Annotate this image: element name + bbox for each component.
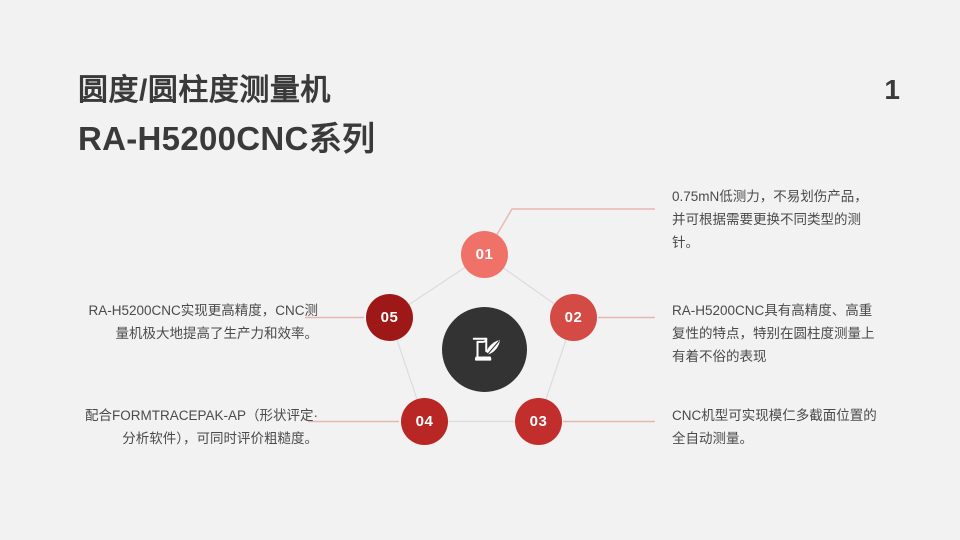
connector-line-01 [492, 209, 655, 243]
title-line-2: RA-H5200CNC系列 [78, 118, 598, 161]
scroll-quill-icon [465, 330, 505, 370]
title-line-1: 圆度/圆柱度测量机 [78, 72, 598, 110]
page-title: 圆度/圆柱度测量机 RA-H5200CNC系列 [78, 72, 598, 161]
node-03[interactable]: 03 [515, 398, 562, 445]
node-01[interactable]: 01 [461, 231, 508, 278]
node-03-label: 03 [530, 413, 548, 430]
center-icon-circle [442, 307, 527, 392]
node-05[interactable]: 05 [366, 294, 413, 341]
description-03: CNC机型可实现模仁多截面位置的全自动测量。 [672, 404, 877, 450]
slide-canvas: 圆度/圆柱度测量机 RA-H5200CNC系列 1 [0, 0, 960, 540]
node-02[interactable]: 02 [550, 294, 597, 341]
node-04[interactable]: 04 [401, 398, 448, 445]
node-02-label: 02 [565, 309, 583, 326]
node-05-label: 05 [381, 309, 399, 326]
description-05: RA-H5200CNC实现更高精度，CNC测量机极大地提高了生产力和效率。 [88, 299, 318, 345]
description-02: RA-H5200CNC具有高精度、高重复性的特点，特别在圆柱度测量上有着不俗的表… [672, 299, 877, 369]
description-01: 0.75mN低测力，不易划伤产品，并可根据需要更换不同类型的测针。 [672, 185, 877, 255]
description-04: 配合FORMTRACEPAK-AP（形状评定·分析软件），可同时评价粗糙度。 [78, 404, 318, 450]
node-01-label: 01 [476, 246, 494, 263]
node-04-label: 04 [416, 413, 434, 430]
page-number: 1 [840, 74, 900, 106]
